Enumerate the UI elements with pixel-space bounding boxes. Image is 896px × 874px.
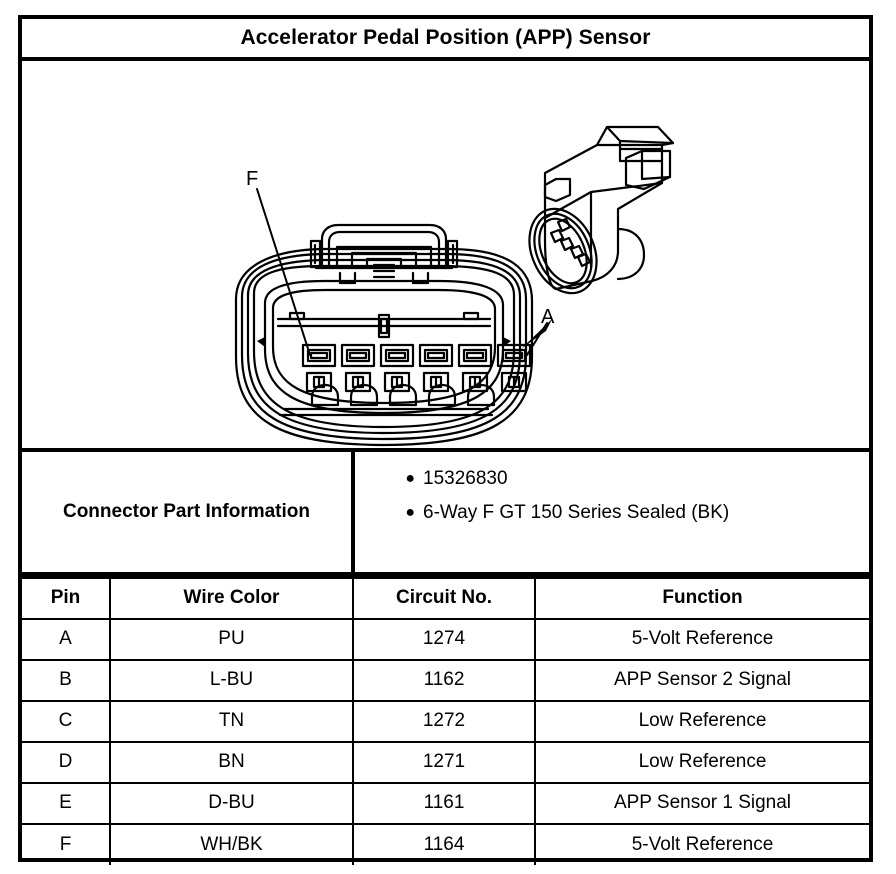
bullet-icon: ● bbox=[355, 500, 423, 526]
column-header-circuit-no: Circuit No. bbox=[353, 578, 535, 619]
column-header-function: Function bbox=[535, 578, 869, 619]
cell-wire-color: BN bbox=[110, 742, 353, 783]
list-item: ● 6-Way F GT 150 Series Sealed (BK) bbox=[355, 500, 863, 526]
column-header-wire-color: Wire Color bbox=[110, 578, 353, 619]
column-header-pin: Pin bbox=[22, 578, 110, 619]
cell-function: 5-Volt Reference bbox=[535, 619, 869, 660]
cell-circuit-no: 1164 bbox=[353, 824, 535, 865]
callout-label-a: A bbox=[541, 307, 554, 327]
list-item: ● 15326830 bbox=[355, 466, 863, 492]
connector-illustration: F A bbox=[22, 61, 869, 452]
cell-circuit-no: 1162 bbox=[353, 660, 535, 701]
connector-part-information-label-cell: Connector Part Information bbox=[22, 452, 355, 572]
front-face-connector-view bbox=[236, 225, 532, 445]
page-title: Accelerator Pedal Position (APP) Sensor bbox=[240, 26, 650, 50]
diagram-frame: Accelerator Pedal Position (APP) Sensor bbox=[18, 15, 873, 862]
connector-part-number: 15326830 bbox=[423, 466, 508, 492]
cell-function: APP Sensor 1 Signal bbox=[535, 783, 869, 824]
table-row: A PU 1274 5-Volt Reference bbox=[22, 619, 869, 660]
cell-pin: B bbox=[22, 660, 110, 701]
cell-pin: E bbox=[22, 783, 110, 824]
connector-description: 6-Way F GT 150 Series Sealed (BK) bbox=[423, 500, 729, 526]
table-row: E D-BU 1161 APP Sensor 1 Signal bbox=[22, 783, 869, 824]
connector-part-information-row: Connector Part Information ● 15326830 ● … bbox=[22, 452, 869, 576]
cell-circuit-no: 1271 bbox=[353, 742, 535, 783]
pin-table: Pin Wire Color Circuit No. Function A PU… bbox=[22, 576, 869, 865]
table-row: C TN 1272 Low Reference bbox=[22, 701, 869, 742]
cell-wire-color: D-BU bbox=[110, 783, 353, 824]
diagram-page: Accelerator Pedal Position (APP) Sensor bbox=[0, 0, 896, 874]
cell-function: APP Sensor 2 Signal bbox=[535, 660, 869, 701]
terminal-cavity-row bbox=[303, 345, 530, 391]
callout-label-f: F bbox=[246, 169, 258, 189]
title-row: Accelerator Pedal Position (APP) Sensor bbox=[22, 19, 869, 61]
cell-wire-color: WH/BK bbox=[110, 824, 353, 865]
cell-circuit-no: 1161 bbox=[353, 783, 535, 824]
cell-pin: C bbox=[22, 701, 110, 742]
cell-pin: D bbox=[22, 742, 110, 783]
cell-function: Low Reference bbox=[535, 742, 869, 783]
cell-wire-color: TN bbox=[110, 701, 353, 742]
connector-part-information-label: Connector Part Information bbox=[63, 501, 310, 523]
connector-drawing bbox=[22, 61, 869, 448]
table-header-row: Pin Wire Color Circuit No. Function bbox=[22, 578, 869, 619]
cell-circuit-no: 1274 bbox=[353, 619, 535, 660]
bullet-icon: ● bbox=[355, 466, 423, 492]
cell-pin: F bbox=[22, 824, 110, 865]
isometric-connector-view bbox=[517, 127, 673, 304]
cell-pin: A bbox=[22, 619, 110, 660]
cell-wire-color: PU bbox=[110, 619, 353, 660]
pin-table-container: Pin Wire Color Circuit No. Function A PU… bbox=[22, 576, 869, 858]
table-row: B L-BU 1162 APP Sensor 2 Signal bbox=[22, 660, 869, 701]
table-row: D BN 1271 Low Reference bbox=[22, 742, 869, 783]
cell-wire-color: L-BU bbox=[110, 660, 353, 701]
connector-part-information-list: ● 15326830 ● 6-Way F GT 150 Series Seale… bbox=[355, 452, 869, 572]
cell-function: Low Reference bbox=[535, 701, 869, 742]
cell-function: 5-Volt Reference bbox=[535, 824, 869, 865]
cell-circuit-no: 1272 bbox=[353, 701, 535, 742]
table-row: F WH/BK 1164 5-Volt Reference bbox=[22, 824, 869, 865]
